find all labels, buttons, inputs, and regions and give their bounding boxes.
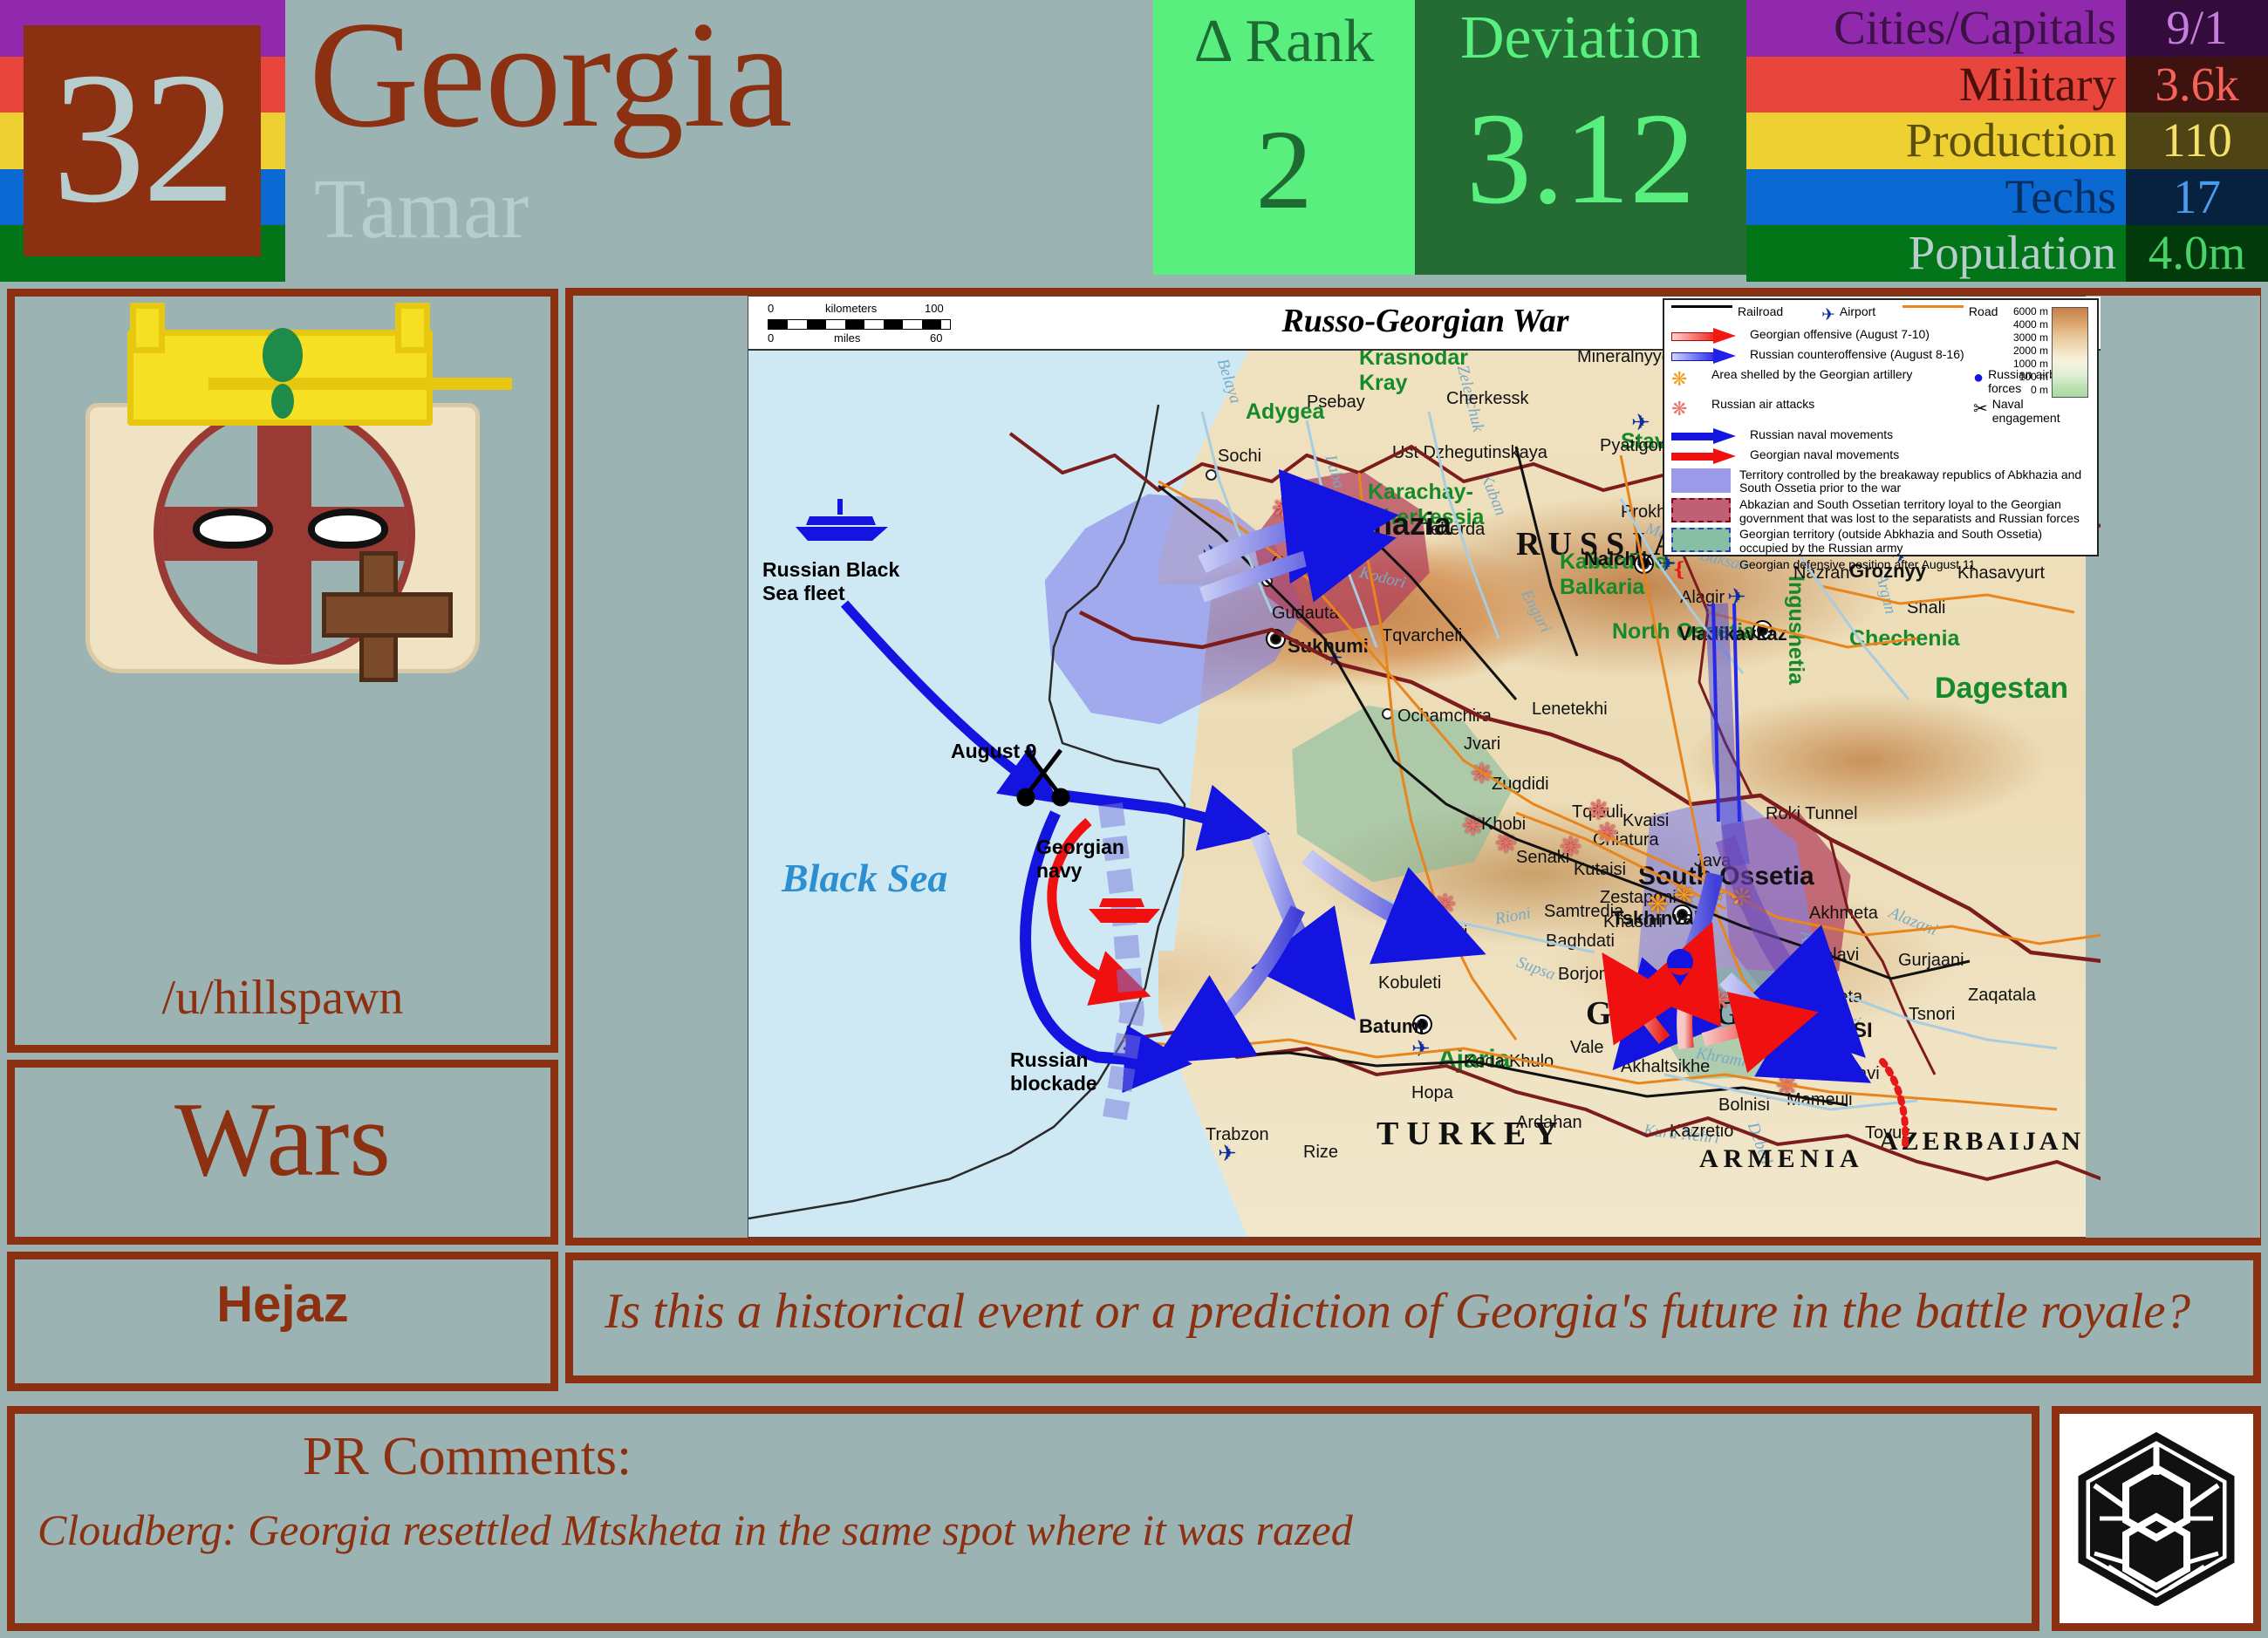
caption-text: Is this a historical event or a predicti…: [605, 1283, 2190, 1340]
scale-km-label: kilometers: [825, 302, 877, 315]
elev-3000: 3000 m: [1952, 331, 2048, 344]
legend-occupied: Georgian territory (outside Abkhazia and…: [1739, 528, 2090, 555]
legend-row-lost: Abkazian and South Ossetian territory lo…: [1671, 498, 2090, 525]
delta-rank-panel: Δ Rank 2: [1153, 0, 1415, 275]
caption-panel: Is this a historical event or a predicti…: [565, 1252, 2261, 1383]
annotation-august-9: August 9: [951, 740, 1036, 763]
legend-russian-naval: Russian naval movements: [1750, 428, 2090, 442]
rank-badge: 32: [24, 25, 261, 256]
eye-right: [308, 508, 388, 549]
country-name: Georgia: [309, 0, 791, 157]
elevation-scale: 6000 m 4000 m 3000 m 2000 m 1000 m 100 m…: [1940, 305, 2088, 401]
pr-comment-text: Cloudberg: Georgia resettled Mtskheta in…: [38, 1505, 1353, 1555]
annotation-russian-blockade: Russian blockade: [1010, 1048, 1141, 1095]
railroad-line-icon: [1671, 305, 1732, 308]
crown-gem-bottom: [271, 384, 294, 419]
wars-title: Wars: [15, 1075, 550, 1205]
breakaway-swatch-icon: [1671, 468, 1731, 493]
stat-row-techs: Techs 17: [1746, 169, 2268, 226]
legend-naval-engagement: Naval engagement: [1992, 398, 2090, 425]
air-attack-burst-icon: ❋: [1671, 398, 1711, 420]
map-title: Russo-Georgian War: [1281, 302, 1568, 340]
elev-4000: 4000 m: [1952, 318, 2048, 331]
airport-icon: ✈: [1821, 305, 1835, 325]
stat-row-population: Population 4.0m: [1746, 225, 2268, 282]
leader-name: Tamar: [314, 161, 529, 257]
war-list-item: Hejaz: [15, 1275, 550, 1334]
russian-counteroffensive-arrow-icon: [1671, 348, 1738, 363]
artillery-burst-icon: ❋: [1671, 368, 1711, 391]
legend-airport: Airport: [1840, 305, 1903, 319]
stat-label-military: Military: [1746, 57, 2126, 113]
georgia-countryball-icon: [56, 323, 509, 811]
avatar-panel: /u/hillspawn: [7, 289, 558, 1053]
legend-railroad: Railroad: [1738, 305, 1821, 319]
map-panel: 0 kilometers 100 0 miles 60 Russo-Georgi…: [565, 288, 2261, 1246]
stat-value-cities: 9/1: [2126, 0, 2268, 57]
defensive-line-icon: ❴: [1671, 558, 1739, 581]
elev-2000: 2000 m: [1952, 345, 2048, 357]
legend-breakaway: Territory controlled by the breakaway re…: [1739, 468, 2090, 495]
map-right-fill: [2086, 296, 2260, 1238]
map-legend: Railroad ✈ Airport Road Georgian offensi…: [1663, 298, 2099, 556]
scale-km-max: 100: [925, 302, 944, 315]
stat-label-production: Production: [1746, 113, 2126, 169]
delta-rank-label: Δ Rank: [1153, 7, 1415, 77]
map-scale-bar: 0 kilometers 100 0 miles 60: [768, 302, 968, 345]
legend-air-attacks: Russian air attacks: [1711, 398, 1973, 412]
annotation-russian-fleet: Russian Black Sea fleet: [762, 558, 919, 605]
wars-list-panel: Hejaz: [7, 1252, 558, 1391]
eye-left: [193, 508, 273, 549]
russian-naval-arrow-icon: [1671, 428, 1738, 443]
username-label: /u/hillspawn: [15, 970, 550, 1026]
stat-label-population: Population: [1746, 225, 2126, 282]
wars-panel: Wars: [7, 1060, 558, 1245]
scale-line: [768, 319, 951, 330]
occupied-swatch-icon: [1671, 528, 1731, 552]
header: 32 Georgia Tamar Δ Rank 2 Deviation 3.12…: [0, 0, 2268, 282]
map-left-fill: [573, 296, 748, 1238]
crown-gem-top: [263, 328, 303, 382]
legend-artillery: Area shelled by the Georgian artillery: [1711, 368, 1973, 382]
legend-row-georgian-naval: Georgian naval movements: [1671, 448, 2090, 466]
russian-fleet-ship-icon: [792, 499, 897, 548]
logo-panel: [2052, 1406, 2261, 1631]
wooden-cross-icon: [359, 551, 398, 682]
stat-row-production: Production 110: [1746, 113, 2268, 169]
lost-territory-swatch-icon: [1671, 498, 1731, 522]
stat-row-military: Military 3.6k: [1746, 57, 2268, 113]
elev-0: 0 m: [1952, 384, 2048, 396]
stat-label-cities: Cities/Capitals: [1746, 0, 2126, 57]
deviation-panel: Deviation 3.12: [1415, 0, 1746, 275]
deviation-label: Deviation: [1415, 3, 1746, 73]
elevation-gradient-bar: [2052, 307, 2088, 398]
legend-row-air-attacks: ❋ Russian air attacks ✂ Naval engagement: [1671, 398, 2090, 425]
legend-row-defensive: ❴ Georgian defensive position after Augu…: [1671, 558, 2090, 581]
stat-row-cities: Cities/Capitals 9/1: [1746, 0, 2268, 57]
scale-mi-min: 0: [768, 331, 774, 345]
elev-6000: 6000 m: [1952, 305, 2048, 317]
scale-mi-label: miles: [834, 331, 860, 345]
stat-label-techs: Techs: [1746, 169, 2126, 226]
stat-value-military: 3.6k: [2126, 57, 2268, 113]
deviation-value: 3.12: [1415, 84, 1746, 234]
stat-value-techs: 17: [2126, 169, 2268, 226]
pr-comments-title: PR Comments:: [303, 1426, 632, 1488]
scissors-icon: ✂: [1973, 398, 1988, 420]
georgian-offensive-arrow-icon: [1671, 328, 1738, 343]
pr-comments-panel: PR Comments: Cloudberg: Georgia resettle…: [7, 1406, 2039, 1631]
legend-row-occupied: Georgian territory (outside Abkhazia and…: [1671, 528, 2090, 555]
scale-km-min: 0: [768, 302, 774, 315]
annotation-georgian-navy: Georgian navy: [1036, 836, 1150, 883]
delta-rank-value: 2: [1153, 105, 1415, 235]
scale-mi-max: 60: [930, 331, 942, 345]
stats-table: Cities/Capitals 9/1 Military 3.6k Produc…: [1746, 0, 2268, 282]
elev-1000: 1000 m: [1952, 358, 2048, 370]
legend-row-breakaway: Territory controlled by the breakaway re…: [1671, 468, 2090, 495]
hexagon-logo-icon: [2073, 1431, 2239, 1606]
country-block: Georgia Tamar: [297, 0, 1151, 282]
legend-row-russian-naval: Russian naval movements: [1671, 428, 2090, 446]
legend-lost: Abkazian and South Ossetian territory lo…: [1739, 498, 2090, 525]
legend-defensive: Georgian defensive position after August…: [1739, 558, 2090, 572]
russo-georgian-war-map: 0 kilometers 100 0 miles 60 Russo-Georgi…: [748, 296, 2101, 1238]
georgian-naval-arrow-icon: [1671, 448, 1738, 463]
elev-100: 100 m: [1952, 371, 2048, 383]
georgian-navy-ship-icon: [1087, 895, 1165, 930]
sidebar: /u/hillspawn Wars Hejaz: [0, 282, 565, 1398]
stat-value-production: 110: [2126, 113, 2268, 169]
crown-band: [208, 378, 512, 390]
stat-value-population: 4.0m: [2126, 225, 2268, 282]
legend-georgian-naval: Georgian naval movements: [1750, 448, 2090, 462]
